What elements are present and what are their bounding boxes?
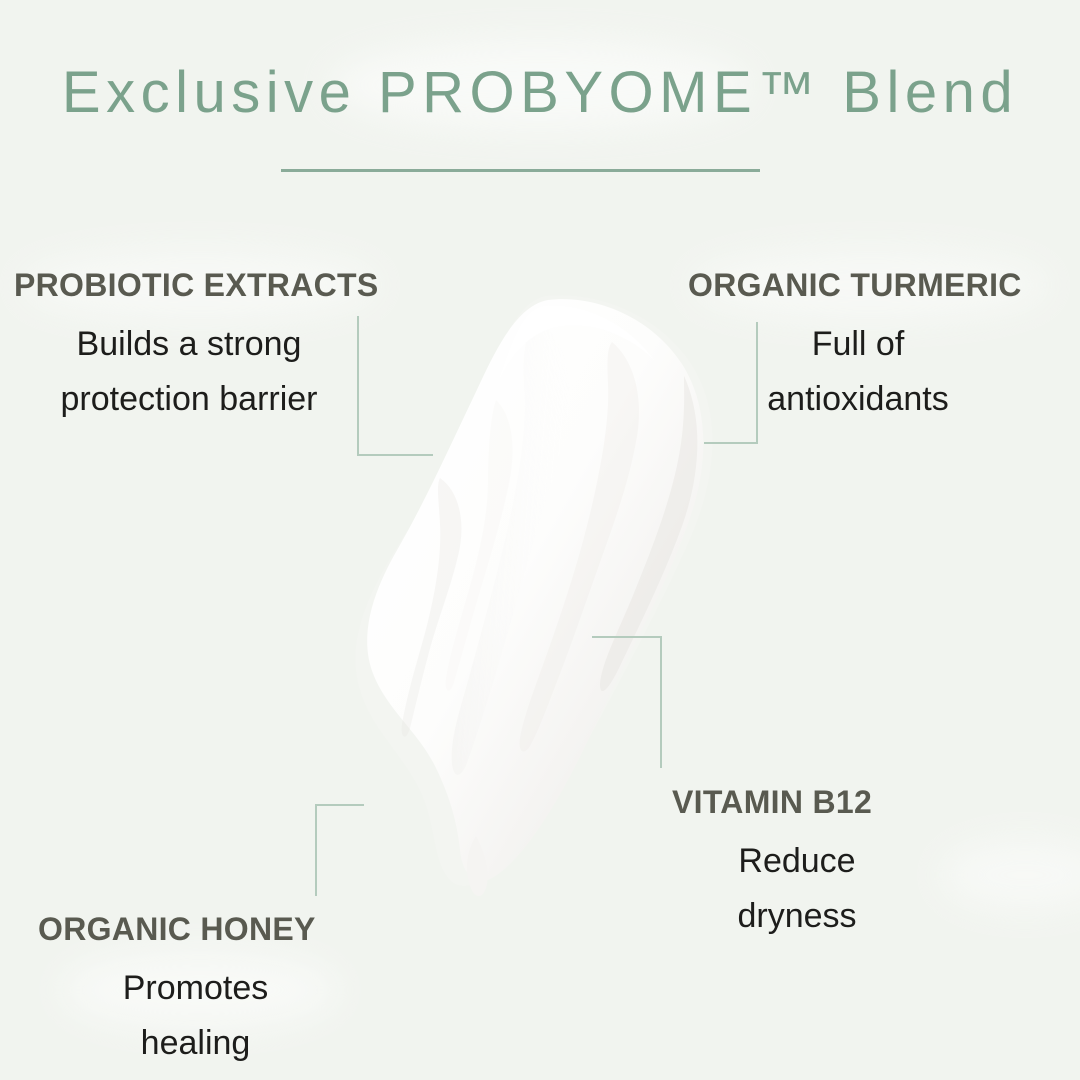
- ingredient-organic-honey: ORGANIC HONEY Promotes healing: [38, 912, 378, 1071]
- connector-line-vitaminb12-horizontal: [592, 636, 662, 638]
- connector-line-honey-horizontal: [315, 804, 364, 806]
- ingredient-description-probiotic: Builds a strong protection barrier: [14, 317, 364, 427]
- ingredient-infographic: Exclusive PROBYOME™ Blend: [0, 0, 1080, 1080]
- ingredient-description-line-1: Reduce: [678, 834, 916, 889]
- title-block: Exclusive PROBYOME™ Blend: [0, 60, 1080, 127]
- title-divider: [281, 169, 760, 172]
- ingredient-description-line-1: Builds a strong: [14, 317, 364, 372]
- ingredient-description-vitaminb12: Reduce dryness: [678, 834, 916, 944]
- ingredient-probiotic-extracts: PROBIOTIC EXTRACTS Builds a strong prote…: [14, 268, 394, 427]
- ingredient-vitamin-b12: VITAMIN B12 Reduce dryness: [672, 785, 992, 944]
- ingredient-heading-turmeric: ORGANIC TURMERIC: [688, 268, 1068, 303]
- ingredient-description-line-1: Promotes: [38, 961, 353, 1016]
- ingredient-heading-honey: ORGANIC HONEY: [38, 912, 378, 947]
- ingredient-heading-vitaminb12: VITAMIN B12: [672, 785, 992, 820]
- connector-line-turmeric-horizontal: [704, 442, 758, 444]
- connector-line-honey-vertical: [315, 804, 317, 896]
- ingredient-description-line-2: healing: [38, 1016, 353, 1071]
- page-title: Exclusive PROBYOME™ Blend: [0, 60, 1080, 127]
- ingredient-heading-probiotic: PROBIOTIC EXTRACTS: [14, 268, 394, 303]
- ingredient-description-turmeric: Full of antioxidants: [688, 317, 1028, 427]
- ingredient-description-line-2: dryness: [678, 889, 916, 944]
- connector-line-vitaminb12-vertical: [660, 636, 662, 768]
- connector-line-probiotic-horizontal: [357, 454, 433, 456]
- ingredient-description-line-1: Full of: [688, 317, 1028, 372]
- ingredient-description-honey: Promotes healing: [38, 961, 353, 1071]
- ingredient-description-line-2: protection barrier: [14, 372, 364, 427]
- ingredient-organic-turmeric: ORGANIC TURMERIC Full of antioxidants: [688, 268, 1068, 427]
- ingredient-description-line-2: antioxidants: [688, 372, 1028, 427]
